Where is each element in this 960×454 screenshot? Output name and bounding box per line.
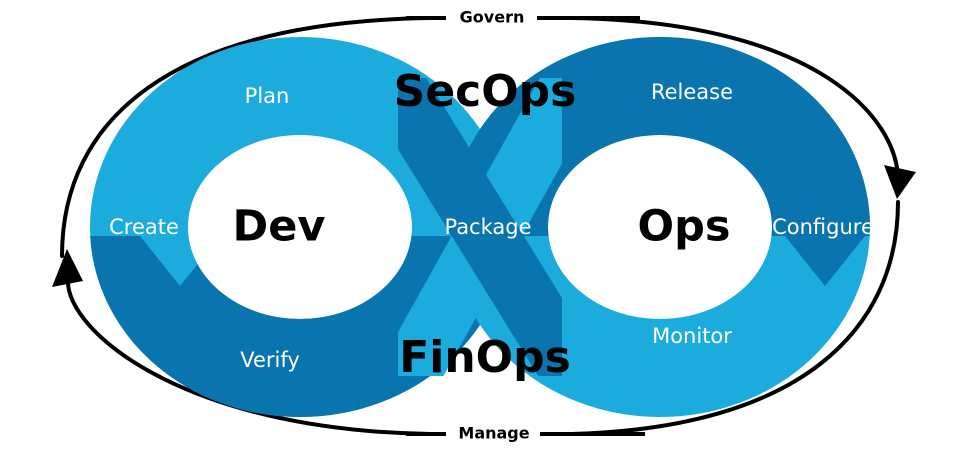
ring-label-govern: Govern	[460, 8, 525, 27]
overlay-label-finops: FinOps	[399, 332, 571, 383]
right-arrow-down-icon	[884, 165, 916, 199]
ring-label-manage: Manage	[458, 424, 529, 443]
overlay-label-secops: SecOps	[394, 66, 577, 117]
stage-label-monitor: Monitor	[652, 324, 732, 348]
stage-label-configure: Configure	[772, 215, 874, 239]
stage-label-create: Create	[109, 215, 179, 239]
devops-infinity-diagram: Plan Create Verify Release Configure Mon…	[0, 0, 960, 454]
core-label-ops: Ops	[638, 202, 731, 252]
stage-label-plan: Plan	[245, 84, 290, 108]
stage-label-release: Release	[651, 80, 733, 104]
left-arrow-up-icon	[52, 249, 83, 287]
stage-label-verify: Verify	[240, 348, 300, 372]
core-label-dev: Dev	[233, 202, 326, 252]
diagram-canvas: Plan Create Verify Release Configure Mon…	[0, 0, 960, 454]
stage-label-package: Package	[444, 215, 531, 239]
